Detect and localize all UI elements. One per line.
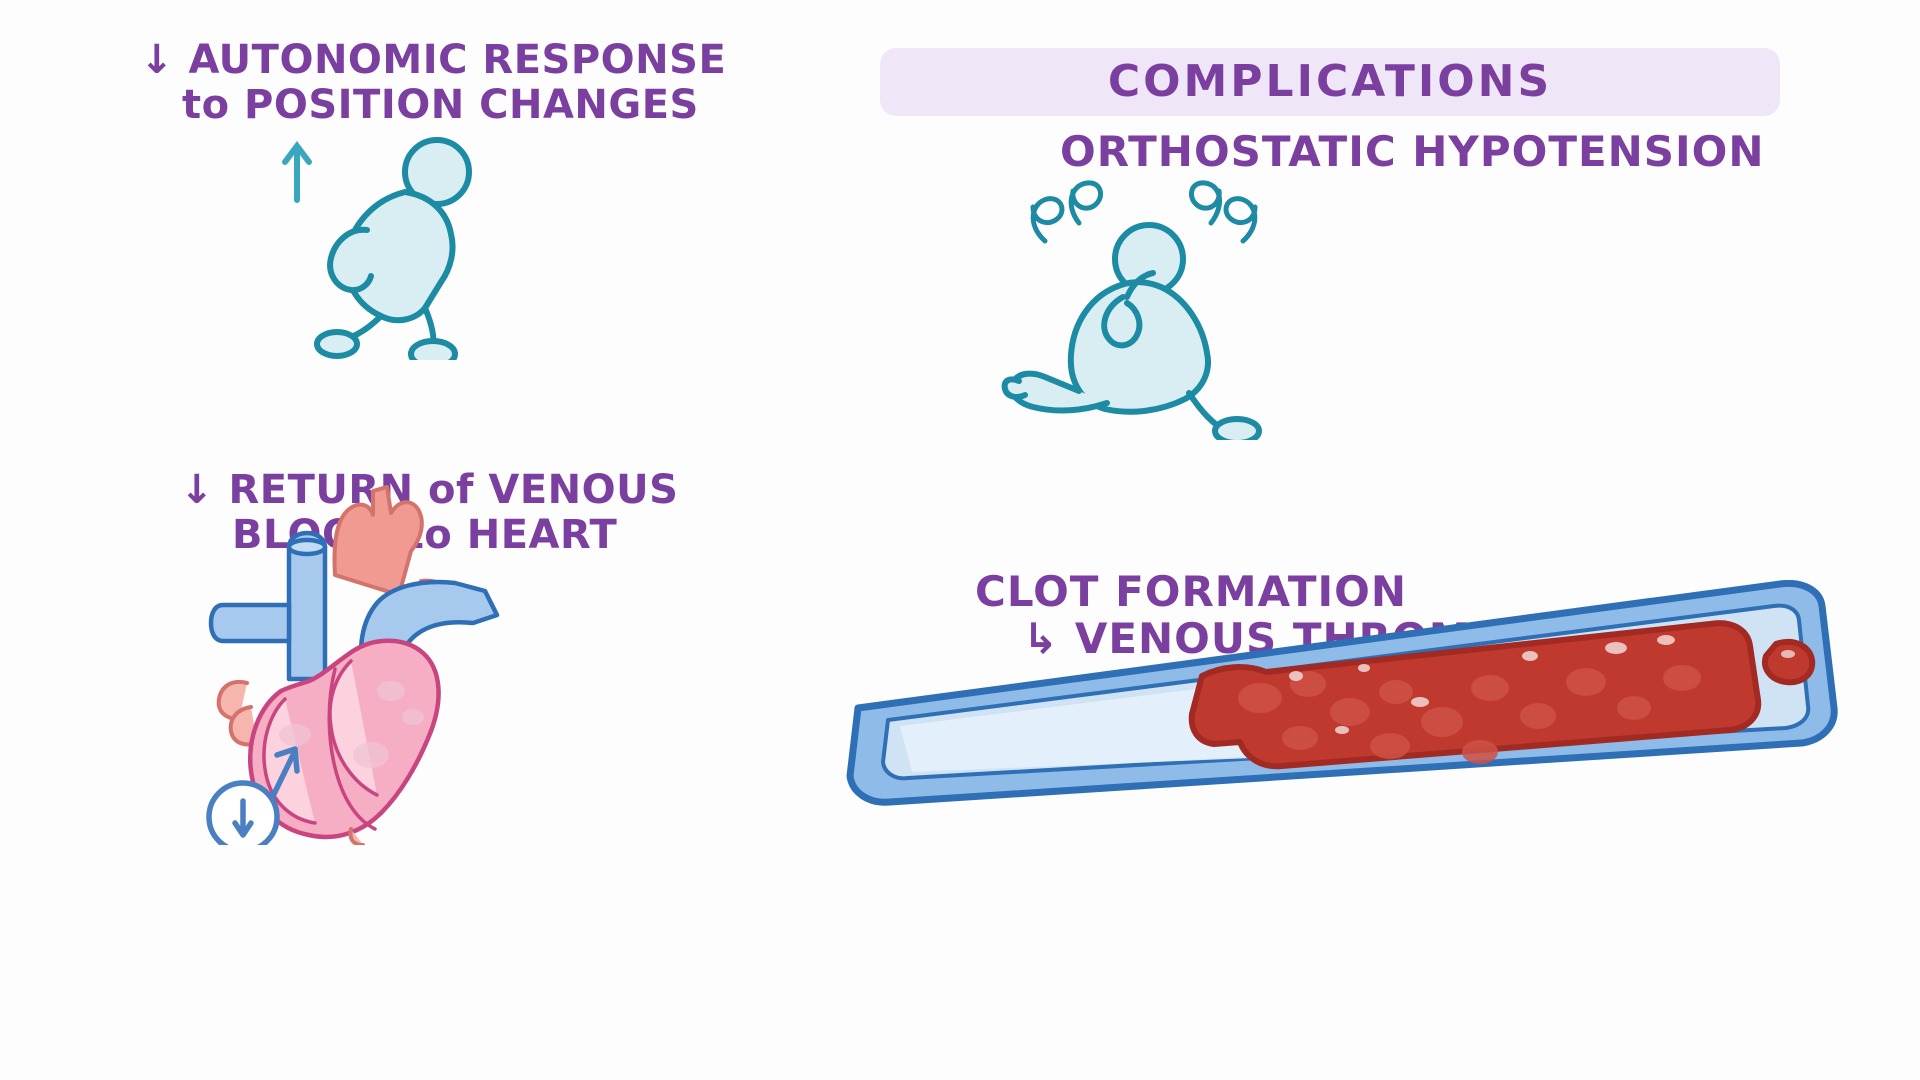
blood-vessel-with-clot-icon [830,580,1840,810]
autonomic-response-line2: to POSITION CHANGES [182,83,726,128]
autonomic-response-caption: ↓ AUTONOMIC RESPONSE to POSITION CHANGES [140,38,726,128]
heart-anatomy-icon [185,455,515,845]
dizzy-seated-person-icon [975,175,1315,440]
down-arrow-icon: ↓ [140,37,174,83]
complications-banner: COMPLICATIONS [880,48,1780,116]
complications-title: COMPLICATIONS [880,48,1780,116]
illustration-canvas: ↓ AUTONOMIC RESPONSE to POSITION CHANGES… [0,0,1920,1080]
autonomic-response-line1: AUTONOMIC RESPONSE [188,37,726,83]
person-standing-up-icon [255,130,515,360]
orthostatic-hypotension-caption: ORTHOSTATIC HYPOTENSION [1060,128,1765,175]
